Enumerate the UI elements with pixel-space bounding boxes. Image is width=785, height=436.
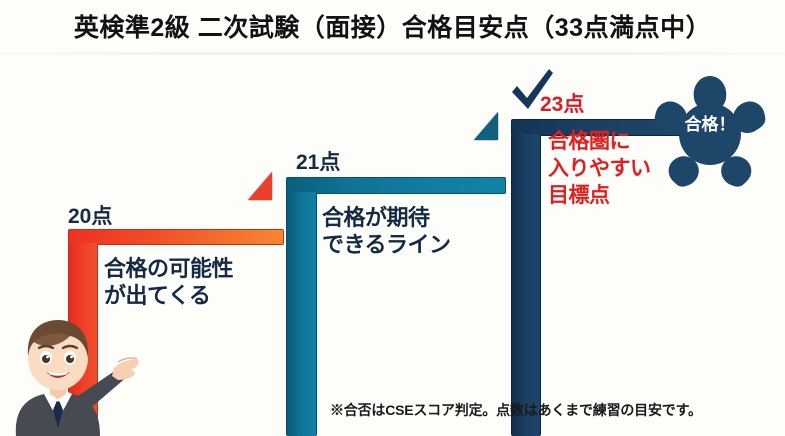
step-tread-20 xyxy=(68,229,284,245)
title-divider xyxy=(0,52,785,55)
sakura-blossom-icon: 合格！ xyxy=(648,72,772,190)
step-riser-23 xyxy=(511,134,541,436)
step-caption-23: 合格圏に 入りやすい 目標点 xyxy=(548,129,651,210)
score-label-21: 21点 xyxy=(296,146,340,176)
step-tread-21 xyxy=(286,177,506,194)
blue-ramp-triangle-icon xyxy=(474,112,498,140)
step-riser-21 xyxy=(286,192,317,436)
infographic-canvas: 英検準2級 二次試験（面接）合格目安点（33点満点中） 20点 合格の可能性 が… xyxy=(0,0,785,436)
step-caption-21: 合格が期待 できるライン xyxy=(322,205,451,259)
page-title: 英検準2級 二次試験（面接）合格目安点（33点満点中） xyxy=(0,8,785,44)
check-icon xyxy=(508,68,556,116)
footnote-text: ※合否はCSEスコア判定。点数はあくまで練習の目安です。 xyxy=(330,400,702,420)
pointing-student-illustration xyxy=(0,302,140,436)
score-label-20: 20点 xyxy=(68,200,112,230)
red-ramp-triangle-icon xyxy=(248,172,272,200)
